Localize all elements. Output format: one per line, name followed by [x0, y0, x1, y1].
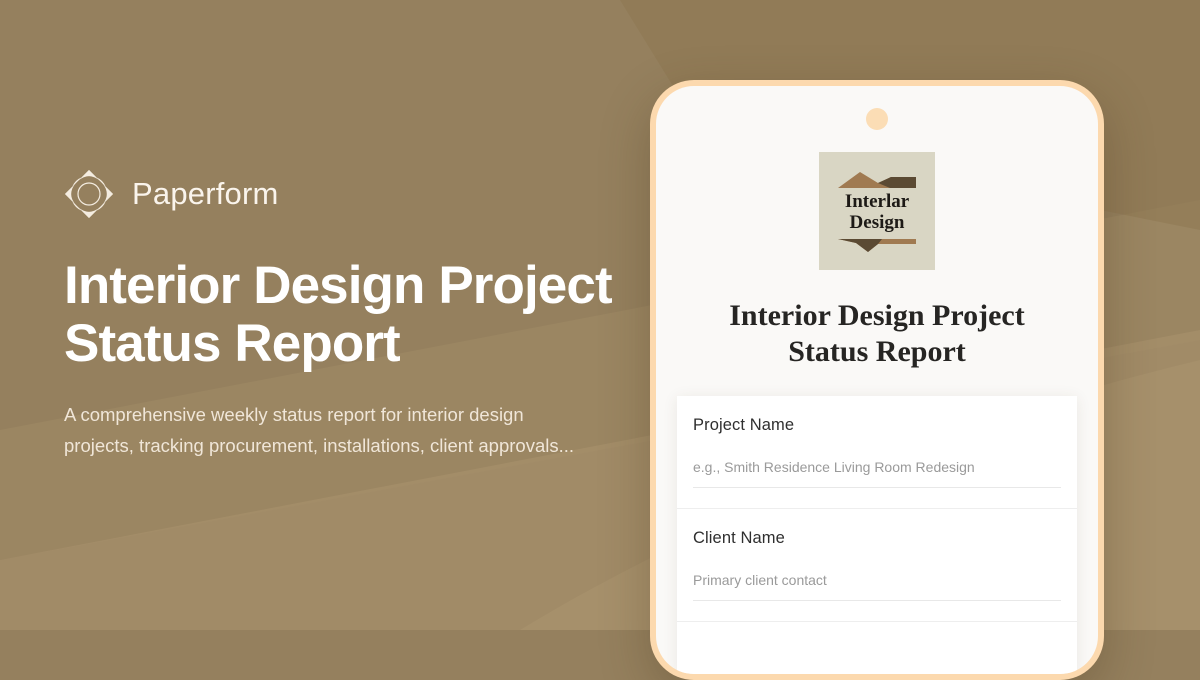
camera-dot-icon — [866, 108, 888, 130]
form-field-project-name: Project Name e.g., Smith Residence Livin… — [677, 396, 1077, 488]
page-title: Interior Design Project Status Report — [64, 257, 624, 374]
form-field-client-name: Client Name Primary client contact — [677, 509, 1077, 601]
field-label: Client Name — [693, 529, 1061, 548]
client-name-input[interactable]: Primary client contact — [693, 572, 1061, 601]
phone-mockup: Interlar Design Interior Design Project … — [650, 80, 1104, 680]
paperform-flower-icon — [64, 169, 114, 219]
form-field-next — [677, 622, 1077, 662]
form-title: Interior Design Project Status Report — [687, 298, 1067, 370]
form-card: Project Name e.g., Smith Residence Livin… — [677, 396, 1077, 674]
mountain-peak-icon — [838, 170, 916, 188]
interlar-design-logo-card: Interlar Design — [819, 152, 935, 270]
logo-line-2: Design — [845, 213, 909, 234]
brand: Paperform — [64, 169, 664, 219]
project-name-input[interactable]: e.g., Smith Residence Living Room Redesi… — [693, 459, 1061, 488]
brand-name: Paperform — [132, 176, 279, 212]
logo-line-1: Interlar — [845, 192, 909, 213]
page-description: A comprehensive weekly status report for… — [64, 399, 574, 461]
inverted-mountain-icon — [838, 238, 916, 252]
hero-pane: Paperform Interior Design Project Status… — [64, 0, 664, 630]
field-label: Project Name — [693, 416, 1061, 435]
phone-screen: Interlar Design Interior Design Project … — [656, 86, 1098, 674]
